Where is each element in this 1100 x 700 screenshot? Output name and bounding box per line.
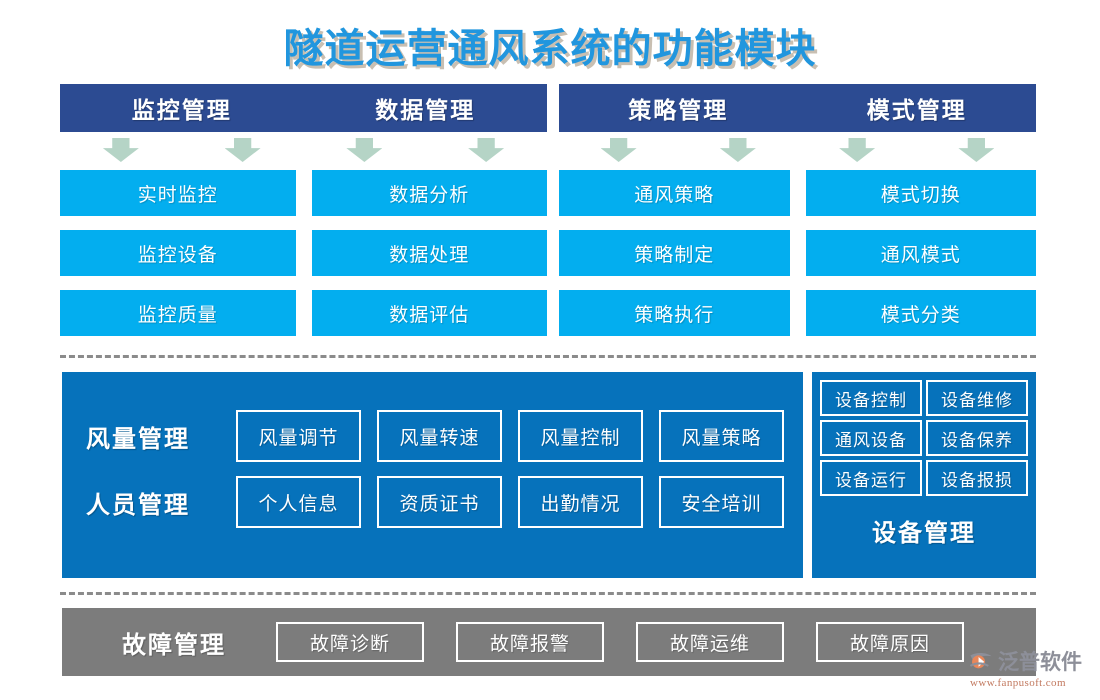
card-item[interactable]: 监控设备 xyxy=(60,230,296,276)
down-arrow-icon xyxy=(468,138,504,162)
equipment-item[interactable]: 设备报损 xyxy=(926,460,1028,496)
middle-item[interactable]: 个人信息 xyxy=(236,476,361,528)
middle-item[interactable]: 风量控制 xyxy=(518,410,643,462)
down-arrow-icon xyxy=(720,138,756,162)
equipment-item[interactable]: 设备运行 xyxy=(820,460,922,496)
middle-row-airflow: 风量管理 风量调节 风量转速 风量控制 风量策略 xyxy=(62,410,803,462)
down-arrow-icon xyxy=(225,138,261,162)
equipment-item[interactable]: 设备控制 xyxy=(820,380,922,416)
equipment-row: 通风设备 设备保养 xyxy=(820,420,1028,456)
page-title: 隧道运营通风系统的功能模块 xyxy=(0,16,1100,74)
equipment-panel: 设备控制 设备维修 通风设备 设备保养 设备运行 设备报损 设备管理 xyxy=(812,372,1036,578)
card-item[interactable]: 数据分析 xyxy=(312,170,548,216)
arrow-row-group-1 xyxy=(60,138,547,164)
column-data: 数据分析 数据处理 数据评估 xyxy=(312,170,548,336)
card-item[interactable]: 模式切换 xyxy=(806,170,1037,216)
arrow-slot xyxy=(304,138,426,164)
fault-item[interactable]: 故障报警 xyxy=(456,622,604,662)
fault-item[interactable]: 故障原因 xyxy=(816,622,964,662)
fault-item[interactable]: 故障运维 xyxy=(636,622,784,662)
card-item[interactable]: 实时监控 xyxy=(60,170,296,216)
arrow-slot xyxy=(917,138,1036,164)
down-arrow-icon xyxy=(958,138,994,162)
equipment-row: 设备运行 设备报损 xyxy=(820,460,1028,496)
card-item[interactable]: 数据处理 xyxy=(312,230,548,276)
arrow-slot xyxy=(559,138,678,164)
dashed-separator-bottom xyxy=(60,592,1036,595)
logo-url: www.fanpusoft.com xyxy=(970,677,1096,689)
brand-logo: 泛普软件 www.fanpusoft.com xyxy=(968,646,1096,694)
middle-item[interactable]: 风量转速 xyxy=(377,410,502,462)
middle-row-label: 人员管理 xyxy=(86,485,236,520)
equipment-row: 设备控制 设备维修 xyxy=(820,380,1028,416)
fault-management-bar: 故障管理 故障诊断 故障报警 故障运维 故障原因 xyxy=(62,608,1036,676)
dashed-separator-top xyxy=(60,355,1036,358)
arrow-slot xyxy=(60,138,182,164)
middle-item[interactable]: 资质证书 xyxy=(377,476,502,528)
down-arrow-icon xyxy=(839,138,875,162)
header-bar-group-2: 策略管理 模式管理 xyxy=(559,84,1036,132)
diagram-canvas: 隧道运营通风系统的功能模块 监控管理 数据管理 策略管理 模式管理 实时监控 监… xyxy=(0,0,1100,700)
card-item[interactable]: 策略执行 xyxy=(559,290,790,336)
card-item[interactable]: 数据评估 xyxy=(312,290,548,336)
logo-name: 泛普软件 xyxy=(998,646,1082,676)
arrow-slot xyxy=(182,138,304,164)
card-item[interactable]: 通风策略 xyxy=(559,170,790,216)
middle-item[interactable]: 出勤情况 xyxy=(518,476,643,528)
fault-item[interactable]: 故障诊断 xyxy=(276,622,424,662)
column-monitoring: 实时监控 监控设备 监控质量 xyxy=(60,170,296,336)
equipment-item[interactable]: 设备维修 xyxy=(926,380,1028,416)
middle-panel: 风量管理 风量调节 风量转速 风量控制 风量策略 人员管理 个人信息 资质证书 … xyxy=(62,372,803,578)
equipment-panel-title: 设备管理 xyxy=(820,508,1028,552)
card-item[interactable]: 通风模式 xyxy=(806,230,1037,276)
arrow-row-group-2 xyxy=(559,138,1036,164)
middle-item[interactable]: 风量策略 xyxy=(659,410,784,462)
middle-item[interactable]: 风量调节 xyxy=(236,410,361,462)
column-strategy: 通风策略 策略制定 策略执行 xyxy=(559,170,790,336)
header-label-strategy: 策略管理 xyxy=(559,84,798,132)
down-arrow-icon xyxy=(346,138,382,162)
card-item[interactable]: 监控质量 xyxy=(60,290,296,336)
middle-item[interactable]: 安全培训 xyxy=(659,476,784,528)
equipment-item[interactable]: 设备保养 xyxy=(926,420,1028,456)
header-bar-group-1: 监控管理 数据管理 xyxy=(60,84,547,132)
header-label-mode: 模式管理 xyxy=(798,84,1037,132)
arrow-slot xyxy=(798,138,917,164)
column-mode: 模式切换 通风模式 模式分类 xyxy=(806,170,1037,336)
fanpu-logo-icon xyxy=(968,648,994,674)
middle-row-label: 风量管理 xyxy=(86,419,236,454)
middle-row-personnel: 人员管理 个人信息 资质证书 出勤情况 安全培训 xyxy=(62,476,803,528)
arrow-slot xyxy=(425,138,547,164)
header-label-data: 数据管理 xyxy=(304,84,548,132)
fault-management-label: 故障管理 xyxy=(122,625,226,660)
down-arrow-icon xyxy=(103,138,139,162)
equipment-item[interactable]: 通风设备 xyxy=(820,420,922,456)
card-group-2: 通风策略 策略制定 策略执行 模式切换 通风模式 模式分类 xyxy=(559,170,1036,336)
header-label-monitoring: 监控管理 xyxy=(60,84,304,132)
card-item[interactable]: 模式分类 xyxy=(806,290,1037,336)
card-item[interactable]: 策略制定 xyxy=(559,230,790,276)
down-arrow-icon xyxy=(601,138,637,162)
card-group-1: 实时监控 监控设备 监控质量 数据分析 数据处理 数据评估 xyxy=(60,170,547,336)
arrow-slot xyxy=(678,138,797,164)
